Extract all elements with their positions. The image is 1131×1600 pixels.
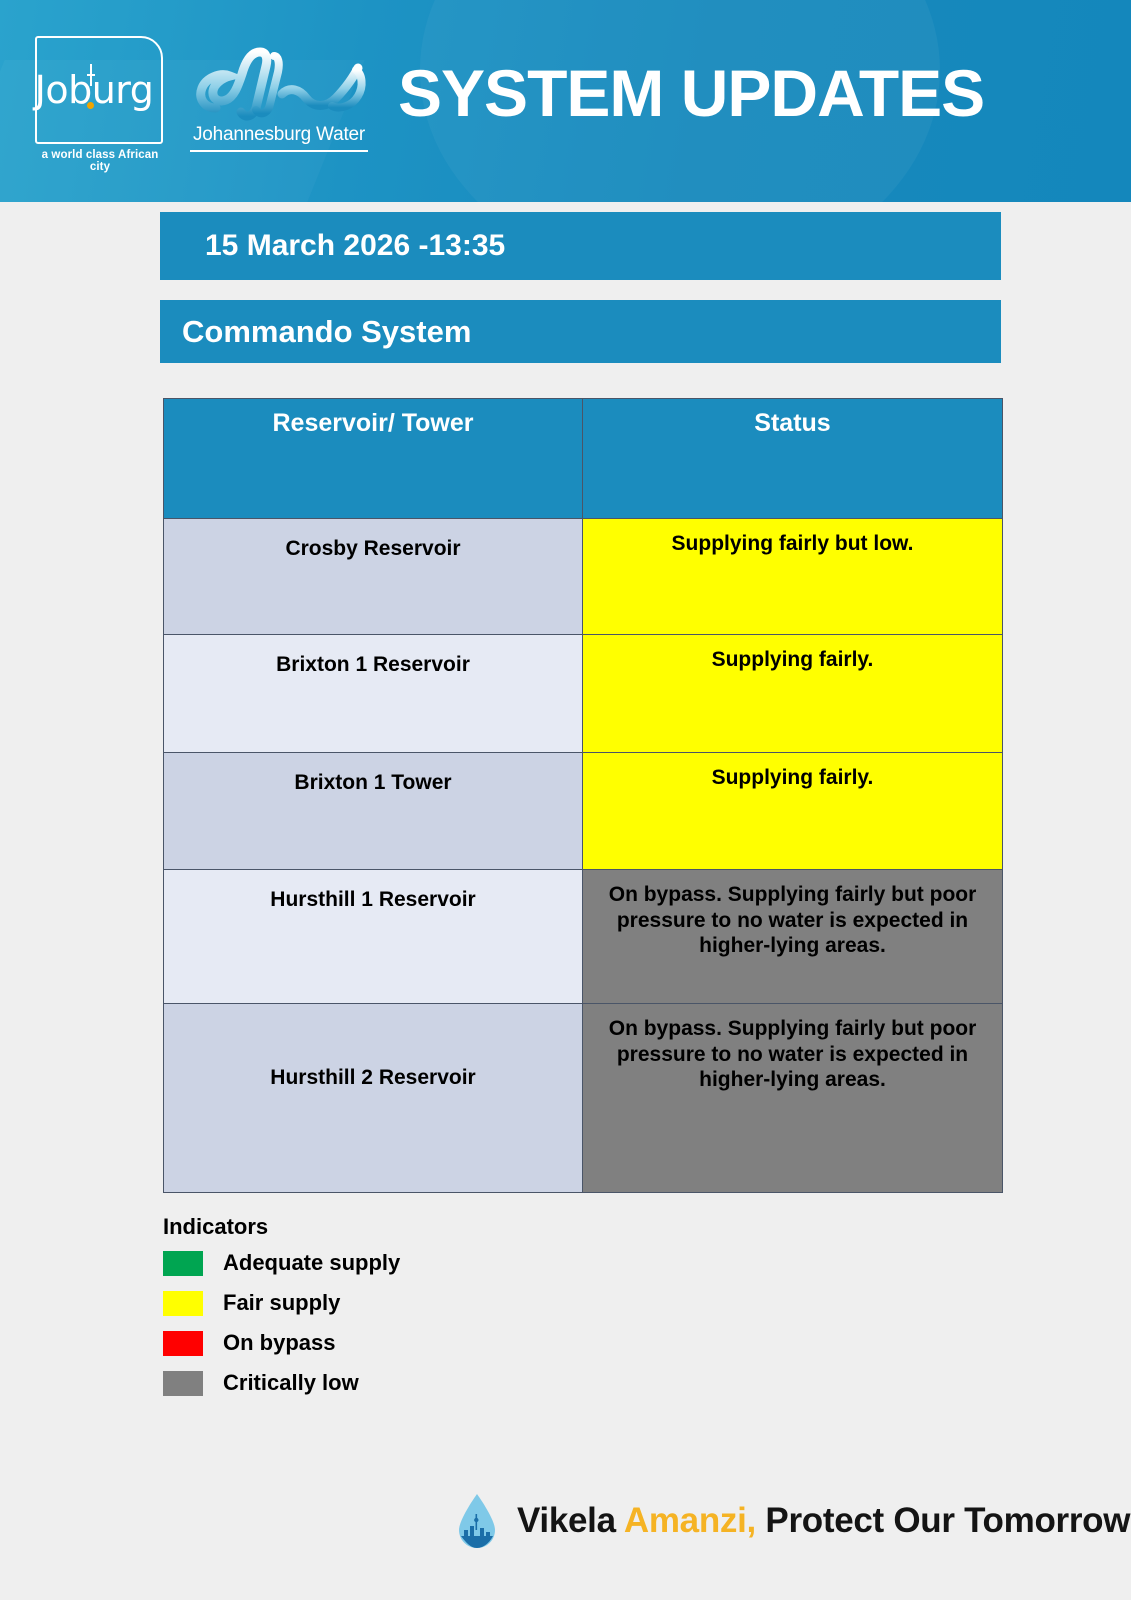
legend-item-adequate-supply: Adequate supply xyxy=(163,1243,400,1283)
water-drop-icon xyxy=(455,1492,499,1550)
cell-status: On bypass. Supplying fairly but poor pre… xyxy=(583,870,1003,1004)
joburg-city-logo: Joburg a world class African city xyxy=(30,36,170,171)
slogan-part-1: Vikela xyxy=(517,1501,624,1540)
slogan-part-2: Protect Our Tomorrow xyxy=(756,1501,1130,1540)
cell-status: On bypass. Supplying fairly but poor pre… xyxy=(583,1004,1003,1193)
joburg-wordmark: Joburg xyxy=(30,36,158,144)
cell-status: Supplying fairly. xyxy=(583,635,1003,753)
legend-label: Critically low xyxy=(223,1370,359,1396)
indicators-legend: Indicators Adequate supply Fair supply O… xyxy=(163,1214,400,1403)
table-row: Hursthill 2 Reservoir On bypass. Supplyi… xyxy=(164,1004,1003,1193)
cell-status: Supplying fairly. xyxy=(583,753,1003,870)
table-row: Crosby Reservoir Supplying fairly but lo… xyxy=(164,519,1003,635)
indicators-title: Indicators xyxy=(163,1214,400,1240)
cell-status: Supplying fairly but low. xyxy=(583,519,1003,635)
reservoir-status-table: Reservoir/ Tower Status Crosby Reservoir… xyxy=(163,398,1003,1193)
system-name-bar: Commando System xyxy=(160,300,1001,363)
legend-swatch-yellow xyxy=(163,1291,203,1316)
page-header-banner: Joburg a world class African city Johann… xyxy=(0,0,1131,202)
joburg-tower-icon xyxy=(90,64,92,86)
jw-logo-underline xyxy=(190,150,368,152)
slogan-highlight-amanzi: Amanzi, xyxy=(624,1501,756,1540)
footer-slogan-text: Vikela Amanzi, Protect Our Tomorrow xyxy=(517,1501,1130,1541)
cell-reservoir-name: Hursthill 1 Reservoir xyxy=(164,870,583,1004)
table-header-row: Reservoir/ Tower Status xyxy=(164,399,1003,519)
legend-label: Adequate supply xyxy=(223,1250,400,1276)
legend-label: Fair supply xyxy=(223,1290,340,1316)
legend-swatch-green xyxy=(163,1251,203,1276)
cell-reservoir-name: Brixton 1 Reservoir xyxy=(164,635,583,753)
table-row: Brixton 1 Reservoir Supplying fairly. xyxy=(164,635,1003,753)
jw-logo-name: Johannesburg Water xyxy=(186,124,372,146)
table-row: Brixton 1 Tower Supplying fairly. xyxy=(164,753,1003,870)
legend-item-fair-supply: Fair supply xyxy=(163,1283,400,1323)
column-header-status: Status xyxy=(583,399,1003,519)
legend-swatch-red xyxy=(163,1331,203,1356)
table-body: Crosby Reservoir Supplying fairly but lo… xyxy=(164,519,1003,1193)
legend-swatch-grey xyxy=(163,1371,203,1396)
legend-item-on-bypass: On bypass xyxy=(163,1323,400,1363)
joburg-tagline: a world class African city xyxy=(30,149,170,173)
page-title: SYSTEM UPDATES xyxy=(398,60,984,126)
footer-slogan-bar: Vikela Amanzi, Protect Our Tomorrow xyxy=(455,1492,1130,1550)
date-time-bar: 15 March 2026 -13:35 xyxy=(160,212,1001,280)
table-header: Reservoir/ Tower Status xyxy=(164,399,1003,519)
joburg-orange-dot-icon xyxy=(87,102,94,109)
legend-label: On bypass xyxy=(223,1330,335,1356)
johannesburg-water-logo: Johannesburg Water xyxy=(186,46,372,158)
table-row: Hursthill 1 Reservoir On bypass. Supplyi… xyxy=(164,870,1003,1004)
legend-item-critically-low: Critically low xyxy=(163,1363,400,1403)
column-header-reservoir-tower: Reservoir/ Tower xyxy=(164,399,583,519)
cell-reservoir-name: Crosby Reservoir xyxy=(164,519,583,635)
cell-reservoir-name: Hursthill 2 Reservoir xyxy=(164,1004,583,1193)
jw-wave-mark-icon xyxy=(186,46,372,124)
cell-reservoir-name: Brixton 1 Tower xyxy=(164,753,583,870)
